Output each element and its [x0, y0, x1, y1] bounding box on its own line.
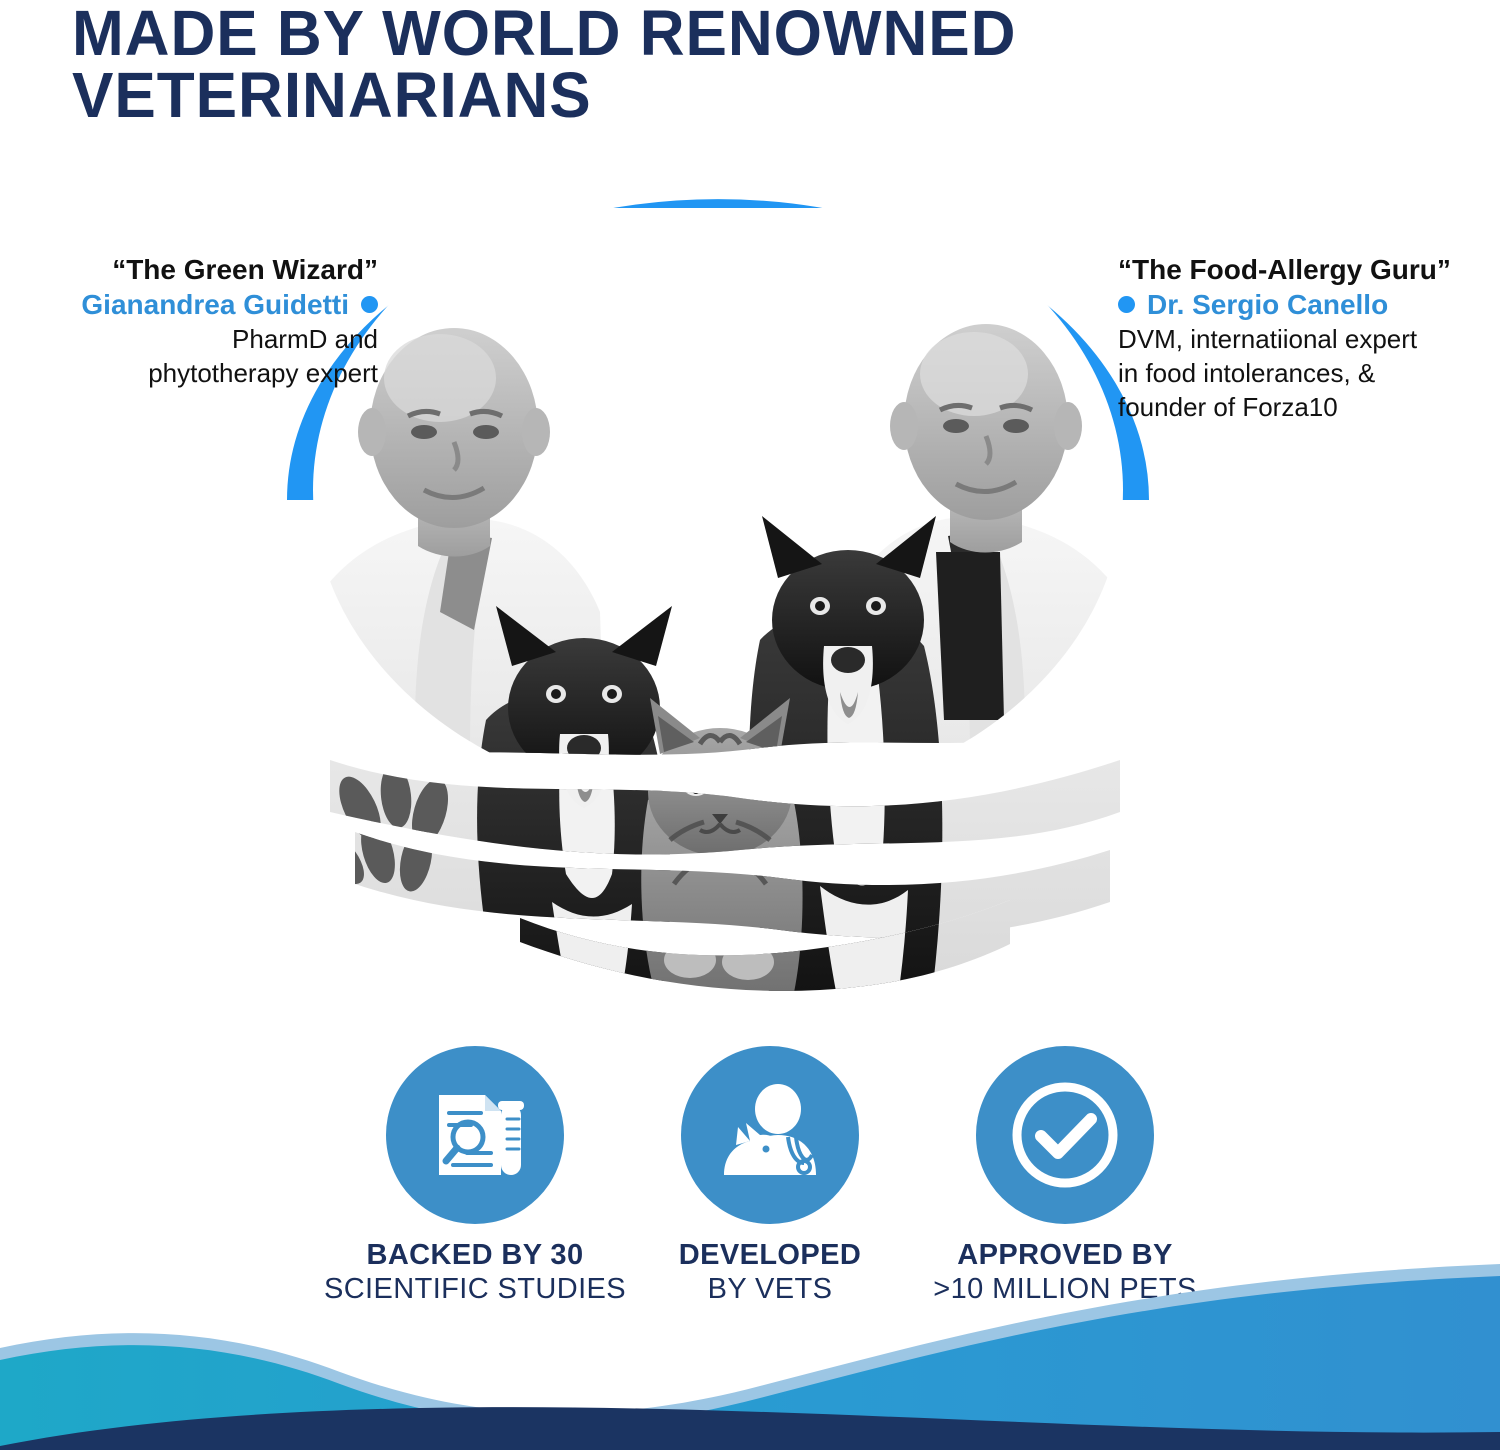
page-title-line-2: Veterinarians: [72, 64, 1236, 126]
page-title-line-1: Made by World Renowned: [72, 2, 1236, 64]
expert-right-credentials-line-3: founder of Forza10: [1118, 390, 1488, 424]
expert-right-nickname: “The Food-Allergy Guru”: [1118, 252, 1488, 287]
vet-with-dog-icon: [716, 1083, 824, 1187]
badge-icon-circle: [976, 1046, 1154, 1224]
expert-left-nickname: “The Green Wizard”: [8, 252, 378, 287]
expert-right-name: Dr. Sergio Canello: [1147, 287, 1388, 322]
badge-icon-circle: [681, 1046, 859, 1224]
expert-right-credentials-line-2: in food intolerances, &: [1118, 356, 1488, 390]
bullet-dot-icon: [1118, 296, 1135, 313]
expert-right: “The Food-Allergy Guru” Dr. Sergio Canel…: [1118, 252, 1488, 424]
expert-left: “The Green Wizard” Gianandrea Guidetti P…: [8, 252, 378, 390]
badge-icon-circle: [386, 1046, 564, 1224]
expert-left-nameline: Gianandrea Guidetti: [8, 287, 378, 322]
expert-right-nameline: Dr. Sergio Canello: [1118, 287, 1488, 322]
page-title: Made by World Renowned Veterinarians: [72, 2, 1236, 126]
footer-wave-decoration: [0, 1260, 1500, 1450]
document-magnifier-testtube-icon: [423, 1083, 527, 1187]
check-circle-icon: [1005, 1075, 1125, 1195]
bullet-dot-icon: [361, 296, 378, 313]
expert-left-credentials-line-2: phytotherapy expert: [8, 356, 378, 390]
expert-left-name: Gianandrea Guidetti: [81, 287, 349, 322]
expert-left-credentials-line-1: PharmD and: [8, 322, 378, 356]
expert-right-credentials-line-1: DVM, internatiional expert: [1118, 322, 1488, 356]
